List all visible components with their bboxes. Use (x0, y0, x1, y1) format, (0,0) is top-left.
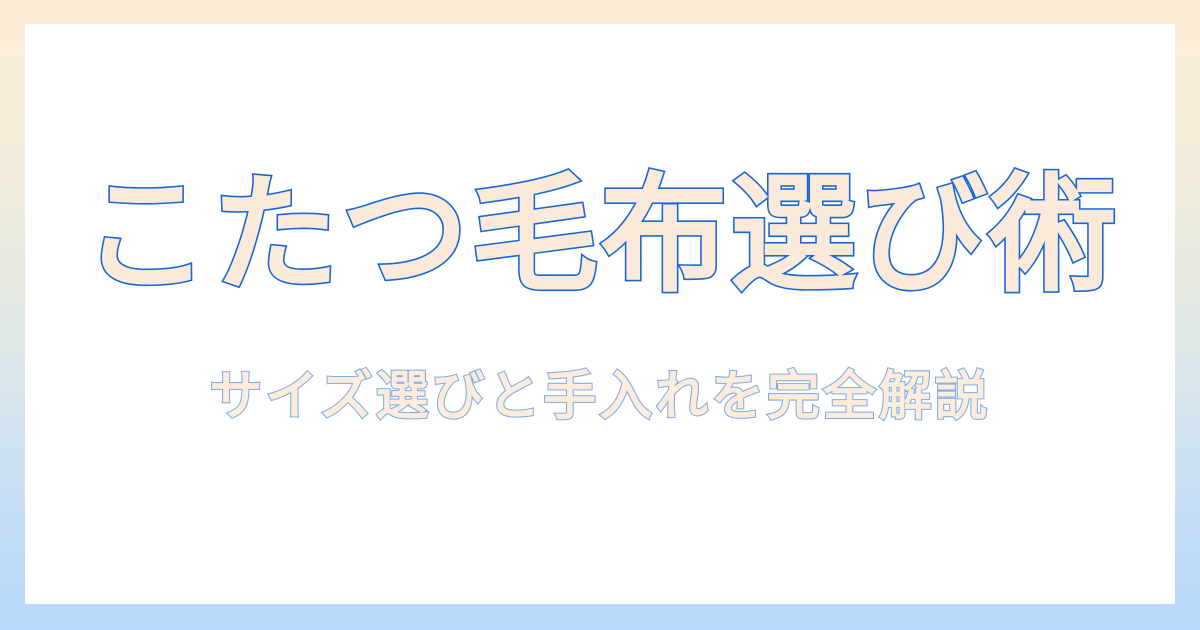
subtitle-block: サイズ選びと手入れを完全解説 (25, 368, 1175, 426)
text-stack: こたつ毛布選び術 サイズ選びと手入れを完全解説 (25, 24, 1175, 604)
page-title: こたつ毛布選び術 (82, 168, 1118, 304)
content-card: こたつ毛布選び術 サイズ選びと手入れを完全解説 (25, 24, 1175, 604)
title-block: こたつ毛布選び術 (25, 168, 1175, 304)
page-subtitle: サイズ選びと手入れを完全解説 (209, 368, 990, 426)
thumbnail-canvas: こたつ毛布選び術 サイズ選びと手入れを完全解説 (0, 0, 1200, 630)
